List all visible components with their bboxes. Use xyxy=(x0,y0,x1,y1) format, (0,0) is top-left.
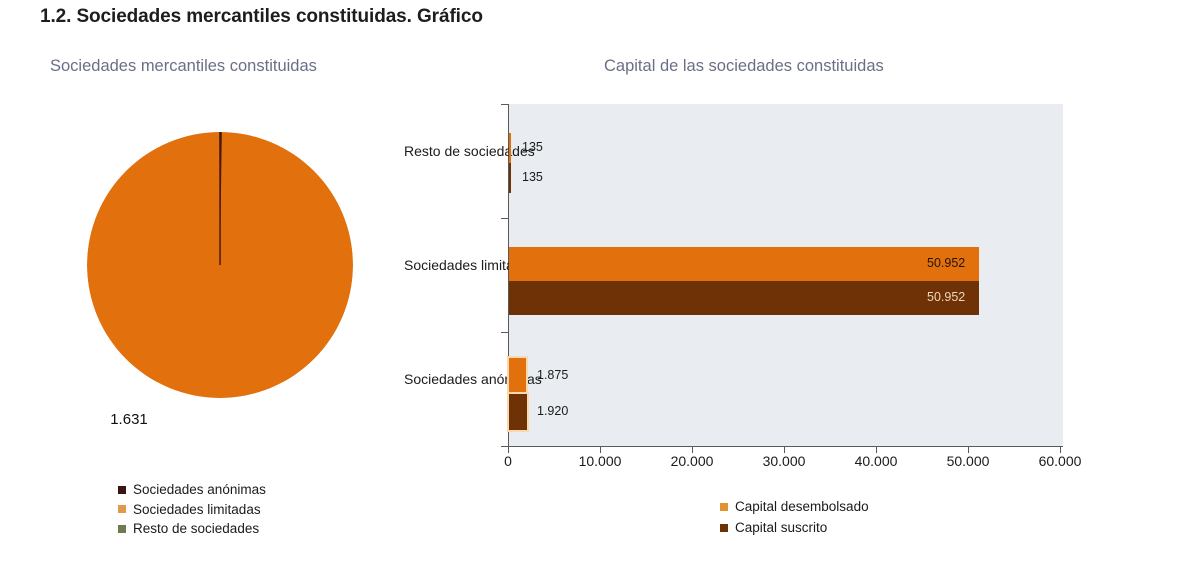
category-label-anonimas: Sociedades anónimas xyxy=(404,371,500,388)
bar-desembolsado-limitadas[interactable] xyxy=(509,247,979,281)
bar-suscrito-resto[interactable] xyxy=(509,163,511,193)
x-axis-tick xyxy=(600,446,601,453)
report-page: 1.2. Sociedades mercantiles constituidas… xyxy=(0,0,1200,573)
legend-swatch-icon xyxy=(720,503,728,511)
pie-total-label: 1.631 xyxy=(0,411,440,428)
bar-value-suscrito-limitadas: 50.952 xyxy=(927,290,965,304)
bar-legend: Capital desembolsado Capital suscrito xyxy=(720,496,869,538)
y-axis-tick xyxy=(501,218,509,219)
x-axis-line xyxy=(508,446,1063,447)
bar-value-desembolsado-anonimas: 1.875 xyxy=(537,368,568,382)
x-axis-tick xyxy=(692,446,693,453)
pie-sliver-highlight xyxy=(219,132,221,265)
legend-swatch-icon xyxy=(118,486,126,494)
bar-value-desembolsado-limitadas: 50.952 xyxy=(927,256,965,270)
x-tick-label: 10.000 xyxy=(560,453,640,469)
y-axis-tick xyxy=(501,104,509,105)
bar-desembolsado-resto[interactable] xyxy=(509,133,511,163)
bar-value-suscrito-resto: 135 xyxy=(522,170,543,184)
x-axis-tick xyxy=(968,446,969,453)
bar-suscrito-anonimas[interactable] xyxy=(509,394,527,430)
category-label-resto: Resto de sociedades xyxy=(404,143,500,160)
x-tick-label: 50.000 xyxy=(928,453,1008,469)
legend-swatch-icon xyxy=(118,505,126,513)
legend-swatch-icon xyxy=(720,524,728,532)
bar-legend-label: Capital desembolsado xyxy=(735,496,869,517)
bar-legend-item-suscrito[interactable]: Capital suscrito xyxy=(720,517,869,538)
x-axis-tick xyxy=(784,446,785,453)
bar-chart-title: Capital de las sociedades constituidas xyxy=(604,57,884,76)
category-label-text: Resto de sociedades xyxy=(404,143,535,159)
x-tick-label: 40.000 xyxy=(836,453,916,469)
y-axis-tick xyxy=(501,332,509,333)
pie-legend-label: Resto de sociedades xyxy=(133,519,259,539)
pie-total-value: 1.631 xyxy=(110,411,148,428)
page-title: 1.2. Sociedades mercantiles constituidas… xyxy=(40,6,483,28)
pie-legend-item-limitadas[interactable]: Sociedades limitadas xyxy=(118,500,266,520)
pie-legend-item-resto[interactable]: Resto de sociedades xyxy=(118,519,266,539)
pie-svg xyxy=(87,132,353,398)
category-label-limitadas: Sociedades limitadas xyxy=(404,257,500,274)
x-tick-label: 0 xyxy=(468,453,548,469)
pie-legend-item-anonimas[interactable]: Sociedades anónimas xyxy=(118,480,266,500)
pie-legend-label: Sociedades anónimas xyxy=(133,480,266,500)
x-axis-tick xyxy=(508,446,509,453)
bar-value-suscrito-anonimas: 1.920 xyxy=(537,404,568,418)
x-axis-tick xyxy=(876,446,877,453)
x-tick-label: 20.000 xyxy=(652,453,732,469)
bar-desembolsado-anonimas[interactable] xyxy=(509,358,526,394)
bar-value-desembolsado-resto: 135 xyxy=(522,140,543,154)
bar-legend-label: Capital suscrito xyxy=(735,517,827,538)
x-axis-tick xyxy=(1060,446,1061,453)
bar-legend-item-desembolsado[interactable]: Capital desembolsado xyxy=(720,496,869,517)
pie-chart-panel: 3 7 1.631 Sociedades anónimas Sociedades… xyxy=(0,90,440,570)
bar-suscrito-limitadas[interactable] xyxy=(509,281,979,315)
pie-legend-label: Sociedades limitadas xyxy=(133,500,261,520)
x-tick-label: 30.000 xyxy=(744,453,824,469)
pie-chart xyxy=(87,132,353,398)
bar-chart-panel: Resto de sociedades Sociedades limitadas… xyxy=(400,90,1200,570)
pie-legend: Sociedades anónimas Sociedades limitadas… xyxy=(118,480,266,539)
legend-swatch-icon xyxy=(118,525,126,533)
pie-chart-title: Sociedades mercantiles constituidas xyxy=(50,57,317,76)
x-tick-label: 60.000 xyxy=(1020,453,1100,469)
